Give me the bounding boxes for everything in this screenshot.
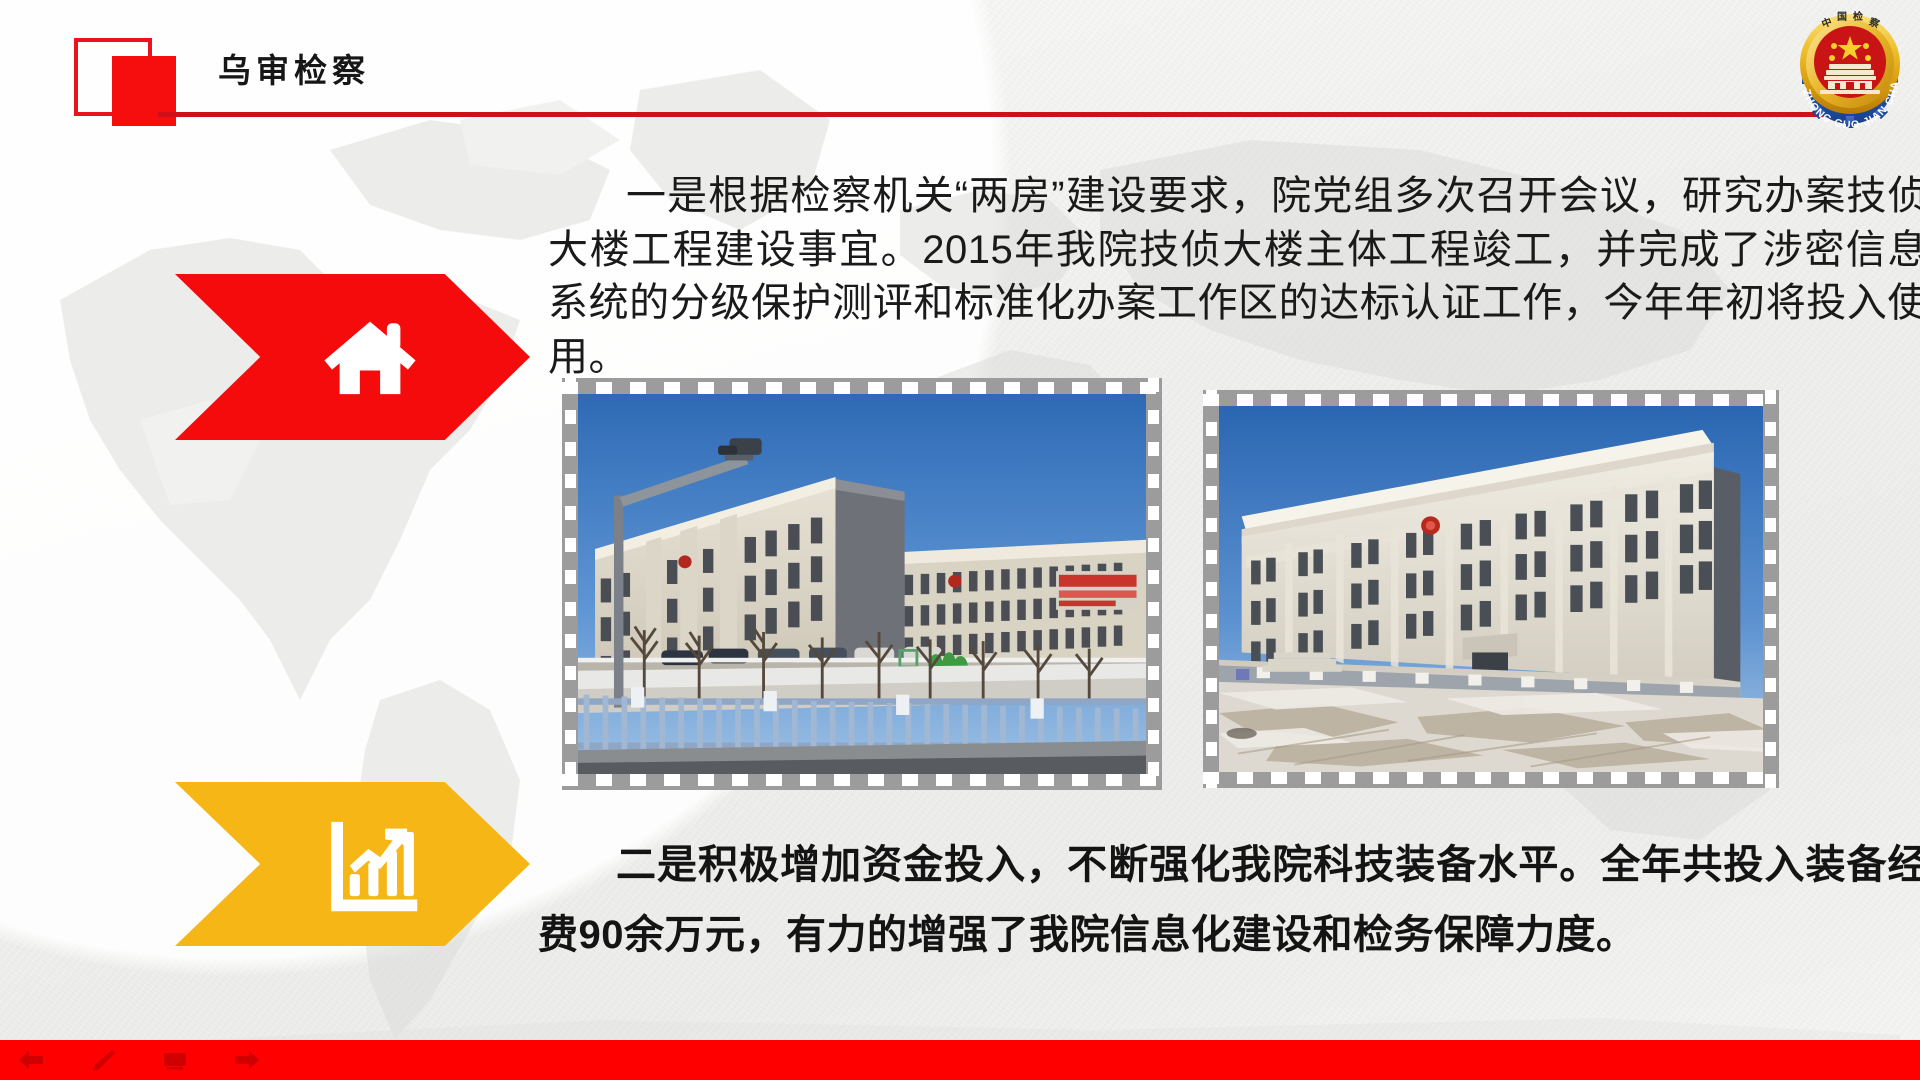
photo-building-front	[1203, 390, 1779, 788]
film-perforation-left	[1206, 390, 1217, 788]
bar-chart-growth-icon	[316, 810, 424, 918]
svg-text:国: 国	[1837, 11, 1847, 23]
pen-icon[interactable]	[90, 1048, 116, 1072]
slide-icon[interactable]	[162, 1048, 188, 1072]
arrow-right-icon[interactable]	[234, 1048, 260, 1072]
svg-text:检: 检	[1853, 10, 1863, 23]
header-divider	[158, 112, 1846, 117]
photo-street-view	[562, 378, 1162, 790]
film-perforation-left	[565, 378, 576, 790]
photo-building-front-image	[1219, 406, 1763, 772]
paragraph-two: 二是积极增加资金投入，不断强化我院科技装备水平。全年共投入装备经费90余万元，有…	[538, 830, 1920, 970]
arrow-left-icon[interactable]	[18, 1048, 44, 1072]
china-procuratorate-emblem: 中 国 检 察 ZHONG GUO JIAN CHA	[1786, 2, 1914, 136]
page-title: 乌审检察	[218, 44, 370, 92]
slide-canvas: 乌审检察	[0, 0, 1920, 1080]
film-perforation-right	[1148, 378, 1159, 790]
presentation-control-bar[interactable]	[0, 1040, 1920, 1080]
film-perforation-right	[1765, 390, 1776, 788]
home-icon	[316, 303, 424, 411]
photo-street-view-image	[578, 394, 1146, 774]
paragraph-one: 一是根据检察机关“两房”建设要求，院党组多次召开会议，研究办案技侦大楼工程建设事…	[548, 170, 1920, 384]
